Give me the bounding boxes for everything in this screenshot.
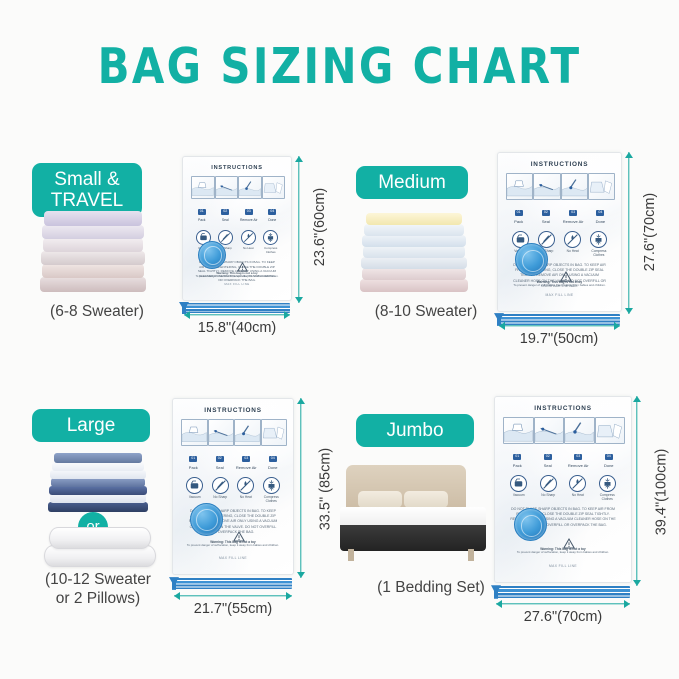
bag-step: 01Pack (181, 419, 206, 470)
no-heat-icon (564, 231, 581, 248)
bag-steps: 01Pack 02Seal 03Remove Air 04Done (504, 173, 615, 224)
warning-label: No Heat (238, 246, 258, 250)
bag-steps: 01Pack 02Seal 03Remove Air 04Done (189, 176, 285, 223)
no-heat-icon (569, 475, 586, 492)
clothing-stack-medium (360, 208, 468, 292)
step-label: Remove Air (238, 218, 260, 223)
bag-sizing-chart-page: BAG SIZING CHART Small & TRAVEL (6-8 Swe… (0, 0, 679, 679)
width-label-jumbo: 27.6"(70cm) (498, 609, 628, 625)
warning-item: No Heat (238, 230, 258, 255)
bag-step: 01Pack (506, 173, 531, 224)
bag-warning-icons: Vacuum No Sharp No Heat Compress Clothes (501, 475, 625, 502)
clothing-stack-small (40, 210, 146, 292)
warning-item: Vacuum (506, 475, 532, 502)
warning-item: Compress Clothes (594, 475, 620, 502)
step-label: Pack (191, 218, 213, 223)
bag-step: 03Remove Air (561, 173, 586, 224)
width-label-large: 21.7"(55cm) (168, 601, 298, 617)
bag-step: 02Seal (215, 176, 237, 223)
step-illustration-pack (181, 419, 208, 446)
vacuum-icon (510, 475, 527, 492)
height-dimension-line-large (294, 398, 308, 578)
bag-step: 02Seal (208, 419, 233, 470)
bag-steps: 01Pack 02Seal 03Remove Air 04Done (501, 417, 625, 468)
size-badge-large[interactable]: Large (32, 409, 150, 442)
height-label-small: 23.6"(60cm) (312, 188, 328, 266)
step-illustration-remove-air (238, 176, 262, 199)
step-number: 01 (515, 210, 523, 216)
warning-label: No Heat (561, 249, 584, 253)
zipper-strip-large (172, 578, 292, 589)
step-label: Done (595, 463, 624, 468)
size-badge-jumbo[interactable]: Jumbo (356, 414, 474, 447)
height-label-large: 33.5" (85cm) (317, 448, 333, 531)
capacity-label-medium: (8-10 Sweater) (336, 302, 516, 321)
page-title: BAG SIZING CHART (17, 38, 662, 95)
step-number: 01 (198, 209, 206, 215)
step-label: Done (262, 218, 284, 223)
bag-instructions-heading: INSTRUCTIONS (501, 405, 625, 412)
step-number: 02 (544, 454, 552, 460)
compress-clothes-icon (599, 475, 616, 492)
warning-label: No Heat (565, 493, 591, 497)
warning-item: Compress Clothes (587, 231, 610, 258)
suffocation-warning: Warning: This bag is not a toy To preven… (495, 538, 631, 555)
height-label-jumbo: 39.4"(100cm) (653, 449, 669, 536)
max-fill-line: MAX FILL LINE (183, 282, 291, 286)
step-label: Remove Air (234, 465, 259, 470)
height-label-medium: 27.6"(70cm) (642, 193, 658, 271)
bag-steps: 01Pack 02Seal 03Remove Air 04Done (179, 419, 287, 470)
size-badge-medium[interactable]: Medium (356, 166, 468, 199)
bag-instructions-heading: INSTRUCTIONS (189, 165, 285, 171)
step-illustration-seal (215, 176, 239, 199)
step-number: 01 (513, 454, 521, 460)
warning-label: No Sharp (535, 493, 561, 497)
warning-item: Compress Clothes (261, 230, 281, 255)
step-illustration-done (588, 173, 615, 200)
vacuum-bag-small: INSTRUCTIONS 01Pack 02Seal 03Remove Air … (182, 156, 292, 301)
suffocation-warning: Warning: This bag is not a toy To preven… (173, 531, 293, 548)
step-label: Done (261, 465, 286, 470)
compress-clothes-icon (263, 230, 278, 245)
warning-text: To prevent danger of suffocation, keep i… (498, 284, 621, 288)
warning-label: Compress Clothes (587, 249, 610, 257)
step-label: Seal (534, 463, 563, 468)
step-number: 02 (216, 456, 224, 462)
warning-text: To prevent danger of suffocation, keep i… (173, 544, 293, 548)
step-label: Seal (215, 218, 237, 223)
no-sharp-objects-icon (540, 475, 557, 492)
step-illustration-seal (533, 173, 560, 200)
bag-step: 03Remove Air (564, 417, 593, 468)
warning-item: No Heat (235, 477, 257, 504)
step-number: 03 (242, 456, 250, 462)
step-label: Done (588, 219, 613, 224)
step-illustration-seal (208, 419, 235, 446)
pillow-stack (44, 525, 156, 567)
warning-item: Vacuum (184, 477, 206, 504)
bag-step: 02Seal (534, 417, 563, 468)
warning-label: No Sharp (209, 495, 231, 499)
step-number: 04 (269, 456, 277, 462)
warning-label: Vacuum (184, 495, 206, 499)
max-fill-line: MAX FILL LINE (173, 556, 293, 560)
bag-instructions-heading: INSTRUCTIONS (179, 407, 287, 414)
warning-text: To prevent danger of suffocation, keep i… (183, 275, 291, 279)
warning-label: No Heat (235, 495, 257, 499)
step-number: 04 (596, 210, 604, 216)
step-number: 03 (245, 209, 253, 215)
bag-step: 04Done (262, 176, 284, 223)
no-sharp-objects-icon (218, 230, 233, 245)
step-label: Seal (208, 465, 233, 470)
step-number: 03 (569, 210, 577, 216)
step-label: Remove Air (564, 463, 593, 468)
vacuum-bag-medium: INSTRUCTIONS 01Pack 02Seal 03Remove Air … (497, 152, 622, 312)
height-dimension-line-small (292, 156, 306, 303)
vacuum-bag-large: INSTRUCTIONS 01Pack 02Seal 03Remove Air … (172, 398, 294, 575)
step-number: 03 (574, 454, 582, 460)
warning-item: Compress Clothes (260, 477, 282, 504)
bag-step: 04Done (261, 419, 286, 470)
warning-label: Vacuum (506, 493, 532, 497)
warning-label: Compress Clothes (260, 495, 282, 503)
capacity-label-small: (6-8 Sweater) (12, 302, 182, 321)
step-illustration-seal (534, 417, 565, 444)
step-illustration-done (261, 419, 288, 446)
step-number: 01 (189, 456, 197, 462)
bag-step: 03Remove Air (238, 176, 260, 223)
step-illustration-pack (503, 417, 534, 444)
warning-item: No Heat (565, 475, 591, 502)
compress-clothes-icon (263, 477, 280, 494)
bag-step: 02Seal (533, 173, 558, 224)
height-dimension-line-jumbo (630, 396, 644, 586)
step-number: 04 (605, 454, 613, 460)
max-fill-line: MAX FILL LINE (495, 564, 631, 568)
suffocation-warning: Warning: This bag is not a toy To preven… (183, 262, 291, 279)
step-label: Pack (181, 465, 206, 470)
step-illustration-remove-air (561, 173, 588, 200)
warning-item: No Sharp (535, 475, 561, 502)
bag-step: 01Pack (191, 176, 213, 223)
bag-step: 01Pack (503, 417, 532, 468)
step-label: Pack (506, 219, 531, 224)
width-label-small: 15.8"(40cm) (172, 320, 302, 336)
step-label: Pack (503, 463, 532, 468)
warning-label: Compress Clothes (594, 493, 620, 501)
warning-item: No Sharp (209, 477, 231, 504)
step-label: Remove Air (561, 219, 586, 224)
bag-step: 04Done (588, 173, 613, 224)
step-label: Seal (533, 219, 558, 224)
step-number: 02 (221, 209, 229, 215)
step-illustration-done (262, 176, 286, 199)
step-number: 04 (268, 209, 276, 215)
no-sharp-objects-icon (212, 477, 229, 494)
warning-item: No Heat (561, 231, 584, 258)
capacity-label-large: (10-12 Sweater or 2 Pillows) (8, 570, 188, 608)
clothing-stack-large (48, 450, 148, 512)
vacuum-bag-jumbo: INSTRUCTIONS 01Pack 02Seal 03Remove Air … (494, 396, 632, 583)
warning-label: Compress Clothes (261, 246, 281, 254)
zipper-strip-jumbo (494, 586, 630, 598)
height-dimension-line-medium (622, 152, 636, 314)
vacuum-icon (186, 477, 203, 494)
step-illustration-remove-air (234, 419, 261, 446)
bedding-set-illustration (340, 465, 490, 565)
bag-warning-icons: Vacuum No Sharp No Heat Compress Clothes (179, 477, 287, 504)
step-illustration-pack (506, 173, 533, 200)
bag-step: 03Remove Air (234, 419, 259, 470)
step-number: 02 (542, 210, 550, 216)
no-heat-icon (241, 230, 256, 245)
bag-instructions-heading: INSTRUCTIONS (504, 161, 615, 168)
bag-step: 04Done (595, 417, 624, 468)
step-illustration-remove-air (564, 417, 595, 444)
max-fill-line: MAX FILL LINE (498, 293, 621, 297)
suffocation-warning: Warning: This bag is not a toy To preven… (498, 271, 621, 288)
step-illustration-done (595, 417, 626, 444)
width-label-medium: 19.7"(50cm) (494, 331, 624, 347)
compress-clothes-icon (590, 231, 607, 248)
warning-text: To prevent danger of suffocation, keep i… (495, 551, 631, 555)
size-badge-small[interactable]: Small & TRAVEL (32, 163, 142, 217)
no-heat-icon (237, 477, 254, 494)
step-illustration-pack (191, 176, 215, 199)
